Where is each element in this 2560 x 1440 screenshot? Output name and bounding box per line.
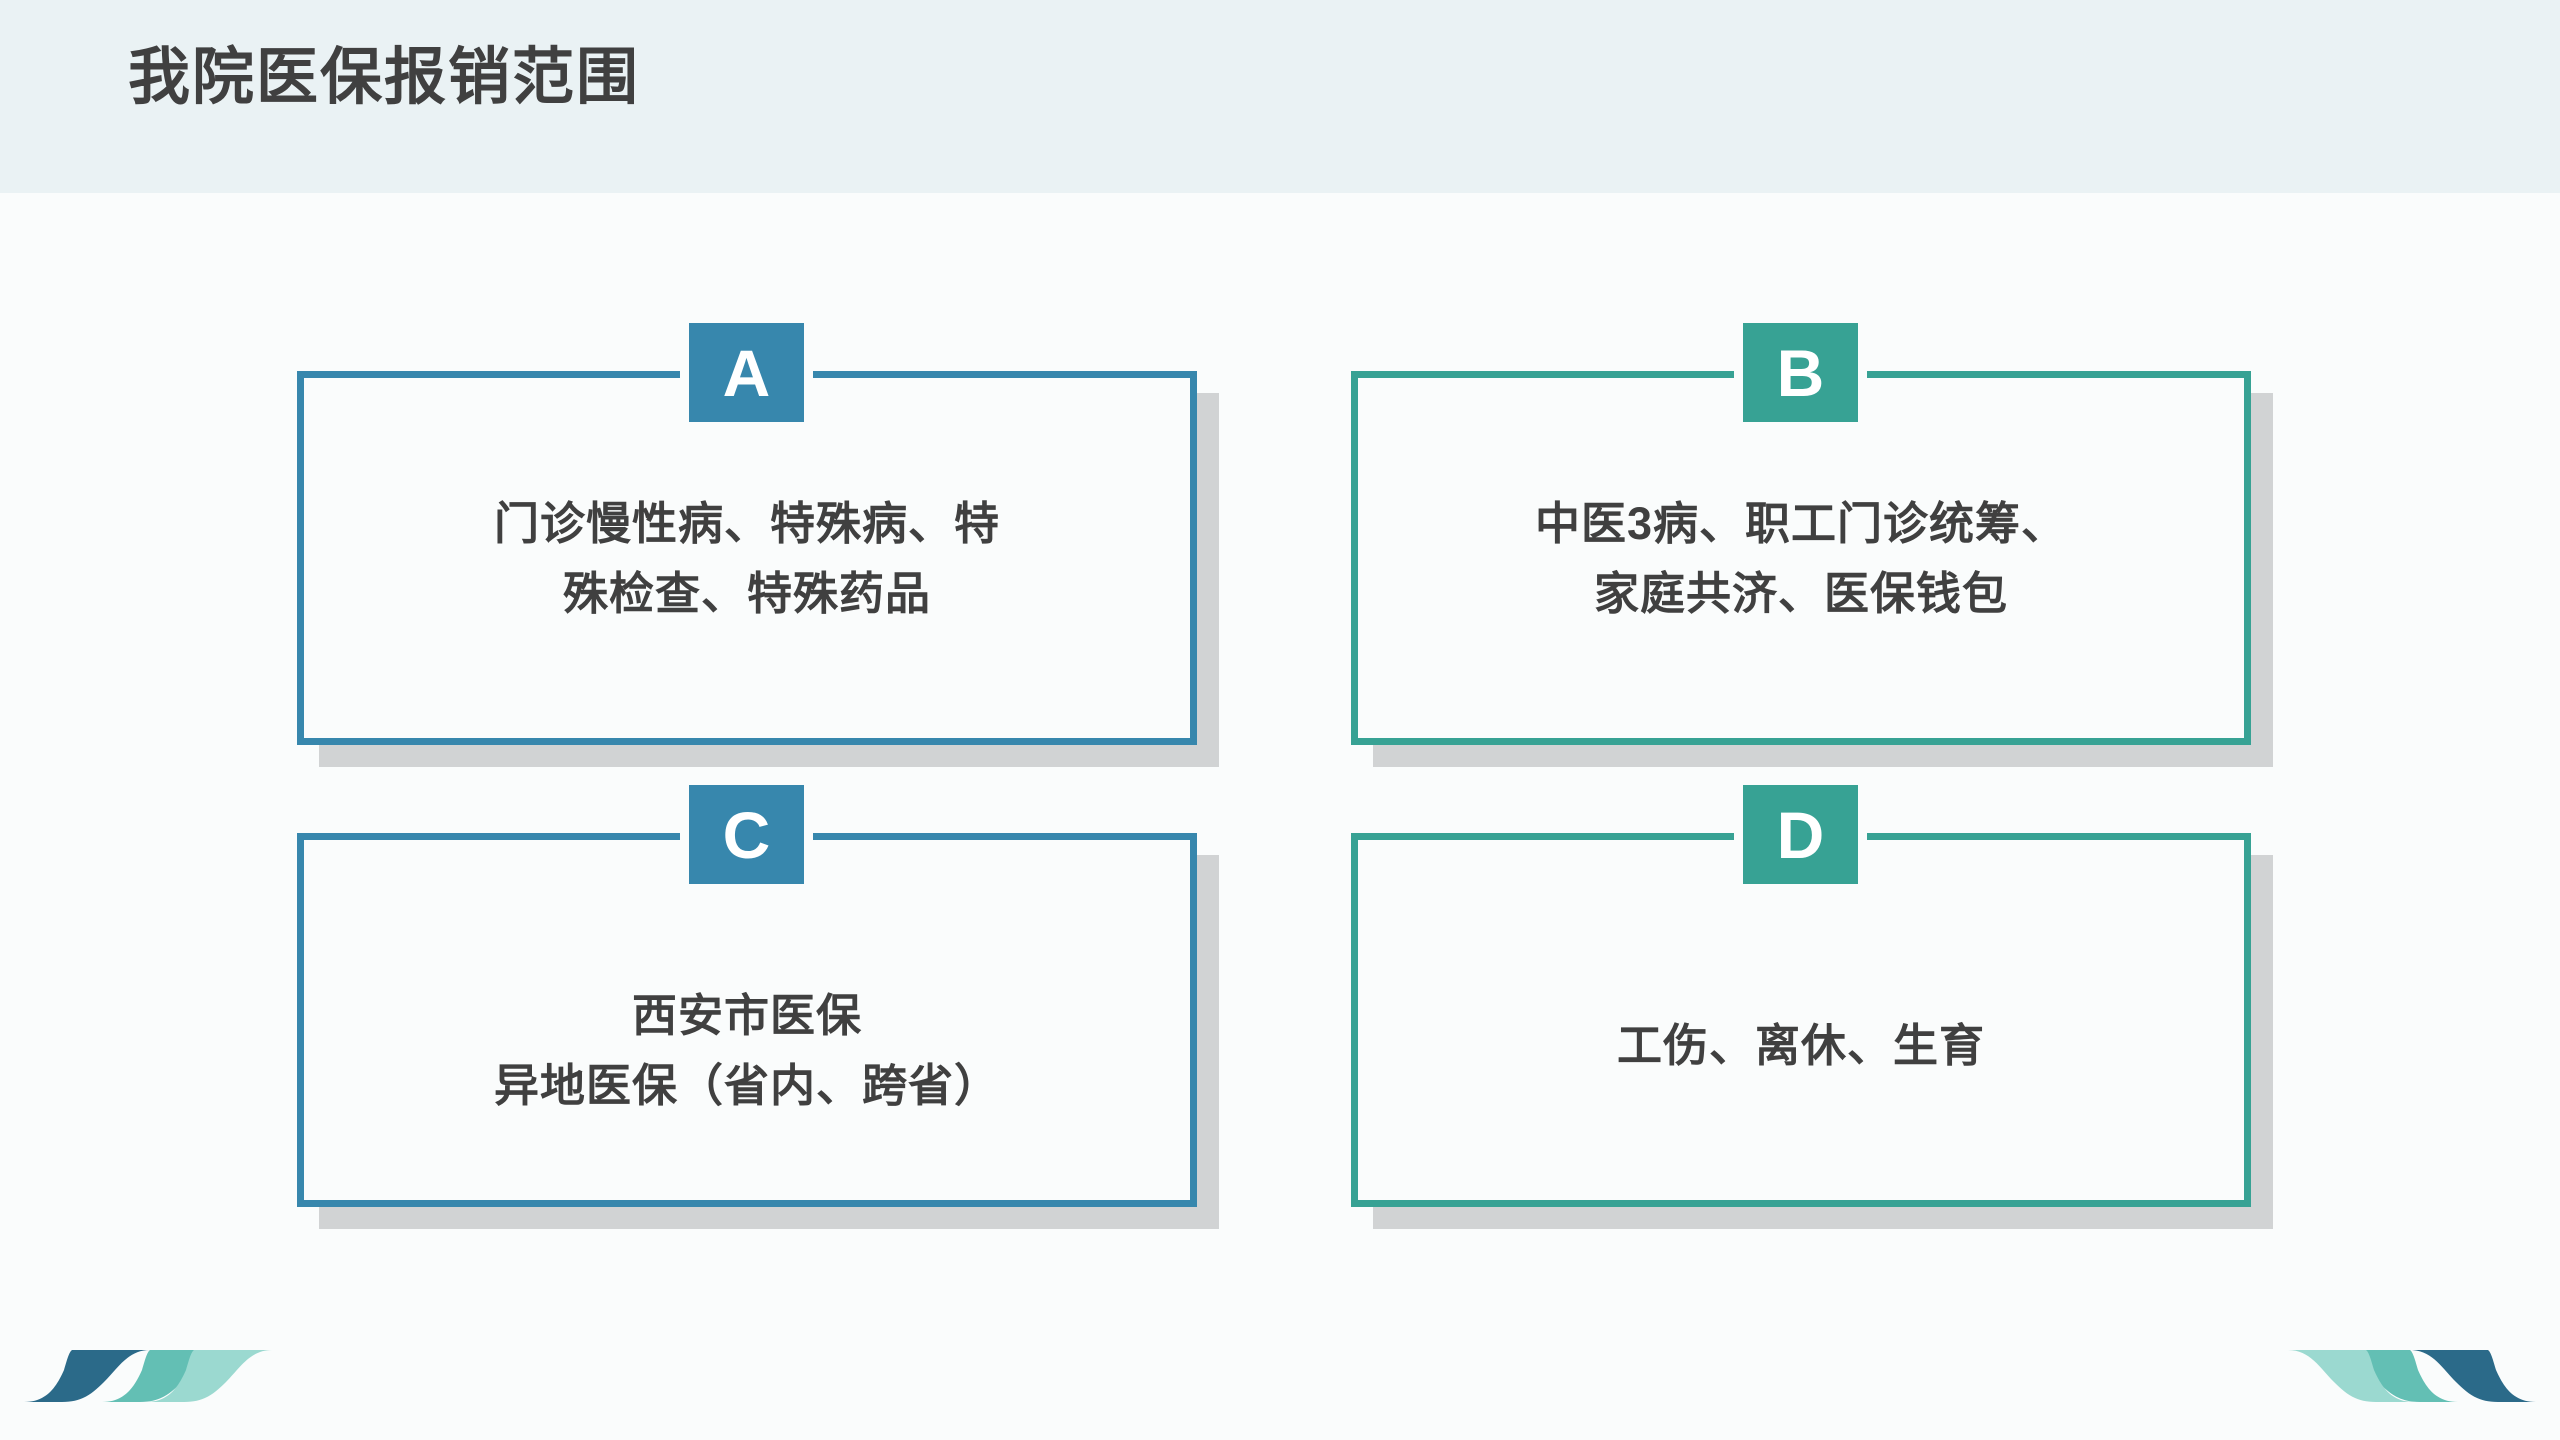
card-b-badge: B: [1743, 323, 1858, 422]
card-d[interactable]: D 工伤、离休、生育: [1351, 833, 2251, 1207]
card-c-text-line1: 西安市医保: [304, 981, 1190, 1051]
card-d-badge: D: [1743, 785, 1858, 884]
card-a-text-line2: 殊检查、特殊药品: [304, 559, 1190, 629]
card-b-text-line1: 中医3病、职工门诊统筹、: [1358, 489, 2244, 559]
header-band: 我院医保报销范围: [0, 0, 2560, 193]
card-a-badge: A: [689, 323, 804, 422]
card-a-text: 门诊慢性病、特殊病、特 殊检查、特殊药品: [304, 489, 1190, 629]
card-b-text: 中医3病、职工门诊统筹、 家庭共济、医保钱包: [1358, 489, 2244, 629]
corner-ribbon-right-icon: [2278, 1348, 2538, 1404]
card-b-text-line2: 家庭共济、医保钱包: [1358, 559, 2244, 629]
card-b[interactable]: B 中医3病、职工门诊统筹、 家庭共济、医保钱包: [1351, 371, 2251, 745]
card-a-text-line1: 门诊慢性病、特殊病、特: [304, 489, 1190, 559]
card-c-text: 西安市医保 异地医保（省内、跨省）: [304, 981, 1190, 1121]
page-title: 我院医保报销范围: [128, 44, 640, 112]
card-c-badge: C: [689, 785, 804, 884]
card-d-text: 工伤、离休、生育: [1358, 1011, 2244, 1081]
corner-ribbon-left-icon: [22, 1348, 282, 1404]
card-c[interactable]: C 西安市医保 异地医保（省内、跨省）: [297, 833, 1197, 1207]
card-a[interactable]: A 门诊慢性病、特殊病、特 殊检查、特殊药品: [297, 371, 1197, 745]
card-d-text-line1: 工伤、离休、生育: [1358, 1011, 2244, 1081]
card-c-text-line2: 异地医保（省内、跨省）: [304, 1051, 1190, 1121]
